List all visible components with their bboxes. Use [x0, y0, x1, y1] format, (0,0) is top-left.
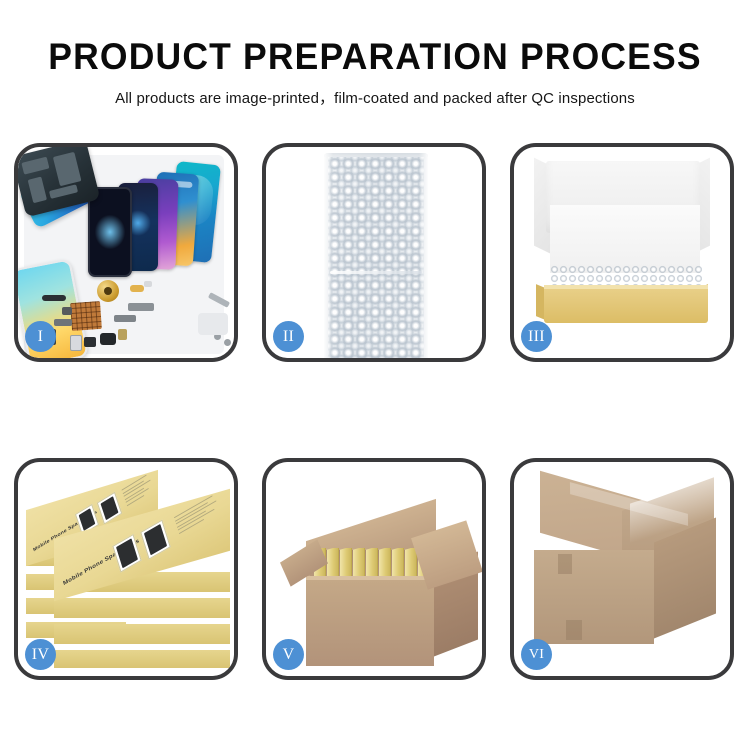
step-badge-6: VI — [521, 639, 552, 670]
carton-edge-tab — [558, 554, 572, 574]
page-title: PRODUCT PREPARATION PROCESS — [15, 38, 735, 77]
spare-part — [42, 295, 66, 301]
stacked-box — [54, 624, 230, 644]
gold-coil-part — [97, 280, 119, 302]
spare-part — [118, 329, 127, 340]
carton-front-panel — [534, 550, 654, 644]
pouch-seam — [330, 271, 422, 274]
box-stack: Mobile Phone Spare Parts Mobile — [26, 476, 234, 666]
process-step-grid: I II — [14, 143, 736, 683]
copper-mesh-part — [70, 301, 102, 331]
spare-part — [62, 307, 72, 315]
spare-part — [198, 313, 228, 335]
product-preparation-infographic: PRODUCT PREPARATION PROCESS All products… — [0, 0, 750, 750]
spare-part — [128, 303, 154, 311]
bubble-grid-offset — [328, 157, 424, 358]
process-step-3[interactable]: III — [510, 143, 734, 362]
pouch-edge-right — [419, 153, 428, 358]
step-badge-3: III — [521, 321, 552, 352]
spare-part — [54, 319, 72, 326]
spare-part — [144, 281, 152, 287]
page-subtitle: All products are image-printed，film-coat… — [6, 86, 745, 108]
spare-part — [100, 333, 116, 345]
box-spec-lines — [174, 493, 222, 536]
process-step-6[interactable]: VI — [510, 458, 734, 680]
spare-part — [70, 335, 82, 351]
spare-part — [84, 337, 96, 347]
box-front-panel — [544, 289, 708, 323]
spare-part — [130, 285, 144, 292]
process-step-2[interactable]: II — [262, 143, 486, 362]
box-inner-lining — [550, 205, 700, 273]
header: PRODUCT PREPARATION PROCESS All products… — [0, 0, 750, 108]
carton-front-panel — [306, 580, 434, 666]
spare-part — [224, 339, 231, 346]
bubble-wrap-pouch — [324, 153, 428, 358]
stacked-box — [54, 650, 230, 668]
box-spec-lines — [122, 472, 157, 508]
process-step-5[interactable]: V — [262, 458, 486, 680]
step-badge-2: II — [273, 321, 304, 352]
carton-edge-tab — [566, 620, 582, 640]
step-badge-1: I — [25, 321, 56, 352]
box-window — [140, 520, 171, 560]
pouch-edge-left — [324, 153, 333, 358]
process-step-4[interactable]: Mobile Phone Spare Parts Mobile — [14, 458, 238, 680]
step-badge-4: IV — [25, 639, 56, 670]
stacked-box — [54, 598, 230, 618]
step-badge-5: V — [273, 639, 304, 670]
sealed-shipping-carton — [530, 492, 718, 654]
screen-glass-panel — [88, 187, 132, 277]
process-step-1[interactable]: I — [14, 143, 238, 362]
spare-part — [114, 315, 136, 322]
open-shipping-carton — [280, 502, 476, 672]
